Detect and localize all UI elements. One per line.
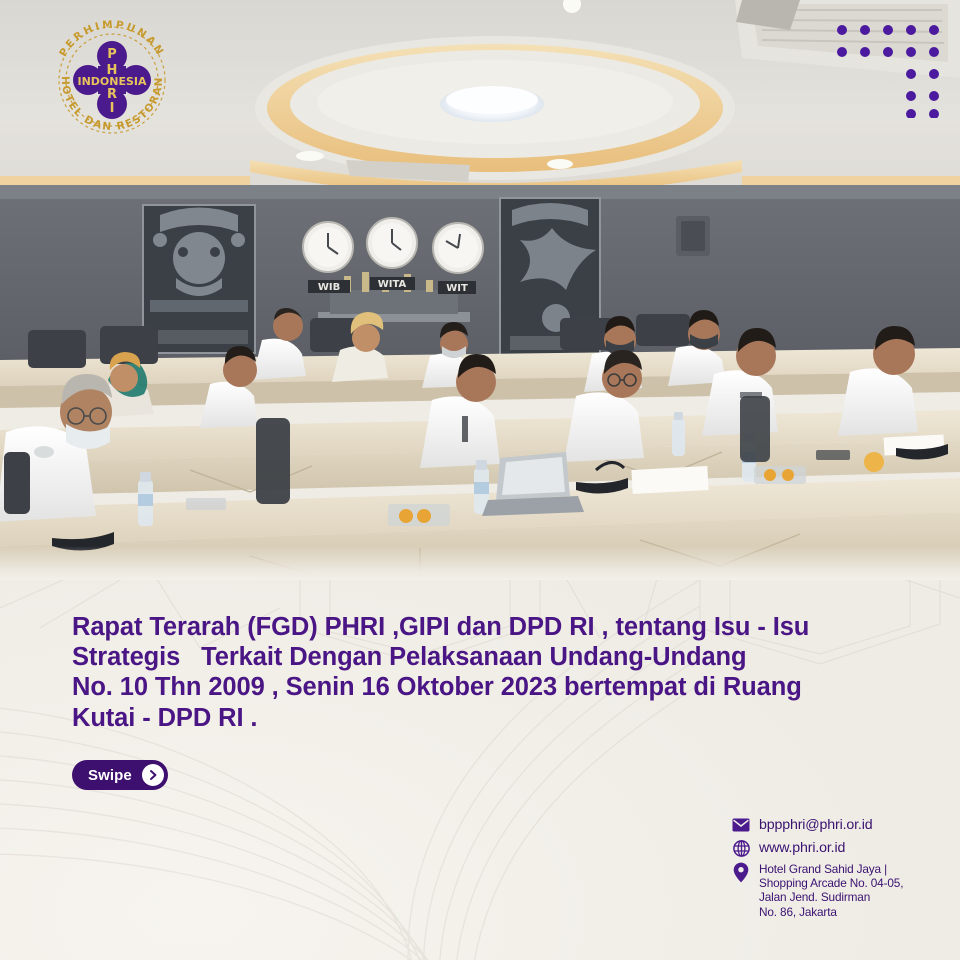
map-pin-icon — [732, 862, 750, 882]
poster-canvas: WIB WITA WIT — [0, 0, 960, 960]
photo-bottom-fade — [0, 546, 960, 580]
contact-block: bppphri@phri.or.id www.phri.or.id Hotel … — [732, 816, 952, 924]
contact-email-row[interactable]: bppphri@phri.or.id — [732, 816, 952, 834]
contact-email-value: bppphri@phri.or.id — [759, 816, 872, 833]
svg-text:WIB: WIB — [318, 282, 340, 293]
swipe-button-label: Swipe — [88, 767, 132, 784]
svg-text:P: P — [107, 47, 117, 62]
chevron-right-icon — [142, 764, 164, 786]
envelope-icon — [732, 816, 750, 834]
contact-address-row: Hotel Grand Sahid Jaya | Shopping Arcade… — [732, 862, 952, 919]
svg-text:WIT: WIT — [446, 283, 468, 294]
contact-website-row[interactable]: www.phri.or.id — [732, 839, 952, 857]
svg-text:WITA: WITA — [378, 279, 407, 290]
svg-text:R: R — [107, 87, 117, 102]
contact-address-value: Hotel Grand Sahid Jaya | Shopping Arcade… — [759, 862, 903, 919]
phri-logo: PERHIMPUNAN HOTEL DAN RESTORAN P H R I I… — [46, 14, 178, 138]
contact-website-value: www.phri.or.id — [759, 839, 845, 856]
swipe-button[interactable]: Swipe — [72, 760, 168, 790]
globe-icon — [732, 839, 750, 857]
svg-text:I: I — [110, 101, 115, 116]
svg-text:INDONESIA: INDONESIA — [77, 75, 147, 88]
dot-grid-pattern — [834, 22, 942, 118]
page-title: Rapat Terarah (FGD) PHRI ,GIPI dan DPD R… — [72, 612, 902, 733]
